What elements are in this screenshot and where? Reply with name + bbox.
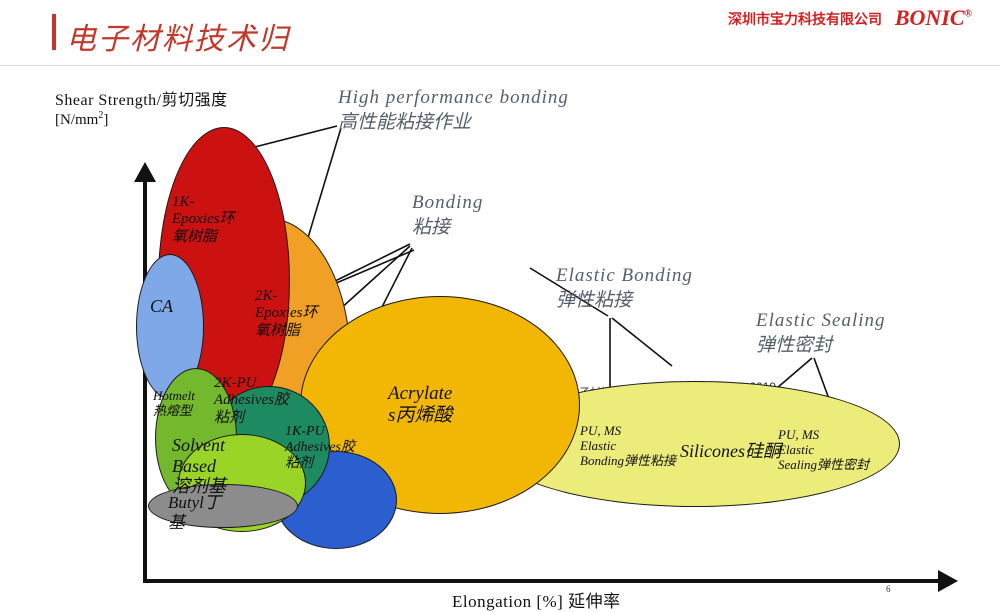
annotation-bonding: Bonding 粘接: [412, 191, 483, 240]
x-axis-line: [143, 579, 946, 583]
annotation-bonding-en: Bonding: [412, 191, 483, 216]
annotation-elastic-bonding-zh: 弹性粘接: [556, 289, 693, 314]
annotation-elastic-bonding-en: Elastic Bonding: [556, 264, 693, 289]
brand-logo-text: BONIC: [895, 5, 965, 30]
company-name: 深圳市宝力科技有限公司: [728, 9, 882, 29]
annotation-bonding-zh: 粘接: [412, 216, 483, 241]
registered-trademark-icon: ®: [965, 9, 972, 20]
annotation-high-performance-bonding-zh: 高性能粘接作业: [338, 111, 569, 136]
annotation-elastic-sealing: Elastic Sealing 弹性密封: [756, 309, 886, 358]
annotation-high-performance-bonding-en: High performance bonding: [338, 86, 569, 111]
annotation-elastic-sealing-en: Elastic Sealing: [756, 309, 886, 334]
bubble-butyl[interactable]: [148, 484, 298, 528]
annotation-high-performance-bonding: High performance bonding 高性能粘接作业: [338, 86, 569, 135]
x-axis-arrow-icon: [938, 570, 958, 592]
annotation-elastic-sealing-zh: 弹性密封: [756, 334, 886, 359]
page-number: 6: [886, 584, 891, 594]
bubble-chart: Shear Strength/剪切强度 [N/mm2] Elongation […: [0, 66, 1000, 559]
slide-header: 电子材料技术归 深圳市宝力科技有限公司 BONIC®: [0, 0, 1000, 66]
annotation-elastic-bonding: Elastic Bonding 弹性粘接: [556, 264, 693, 313]
page-title: 电子材料技术归: [66, 14, 290, 58]
brand-logo: BONIC®: [895, 5, 972, 31]
title-accent-bar: [52, 14, 56, 50]
x-axis-label: Elongation [%] 延伸率: [452, 587, 621, 612]
